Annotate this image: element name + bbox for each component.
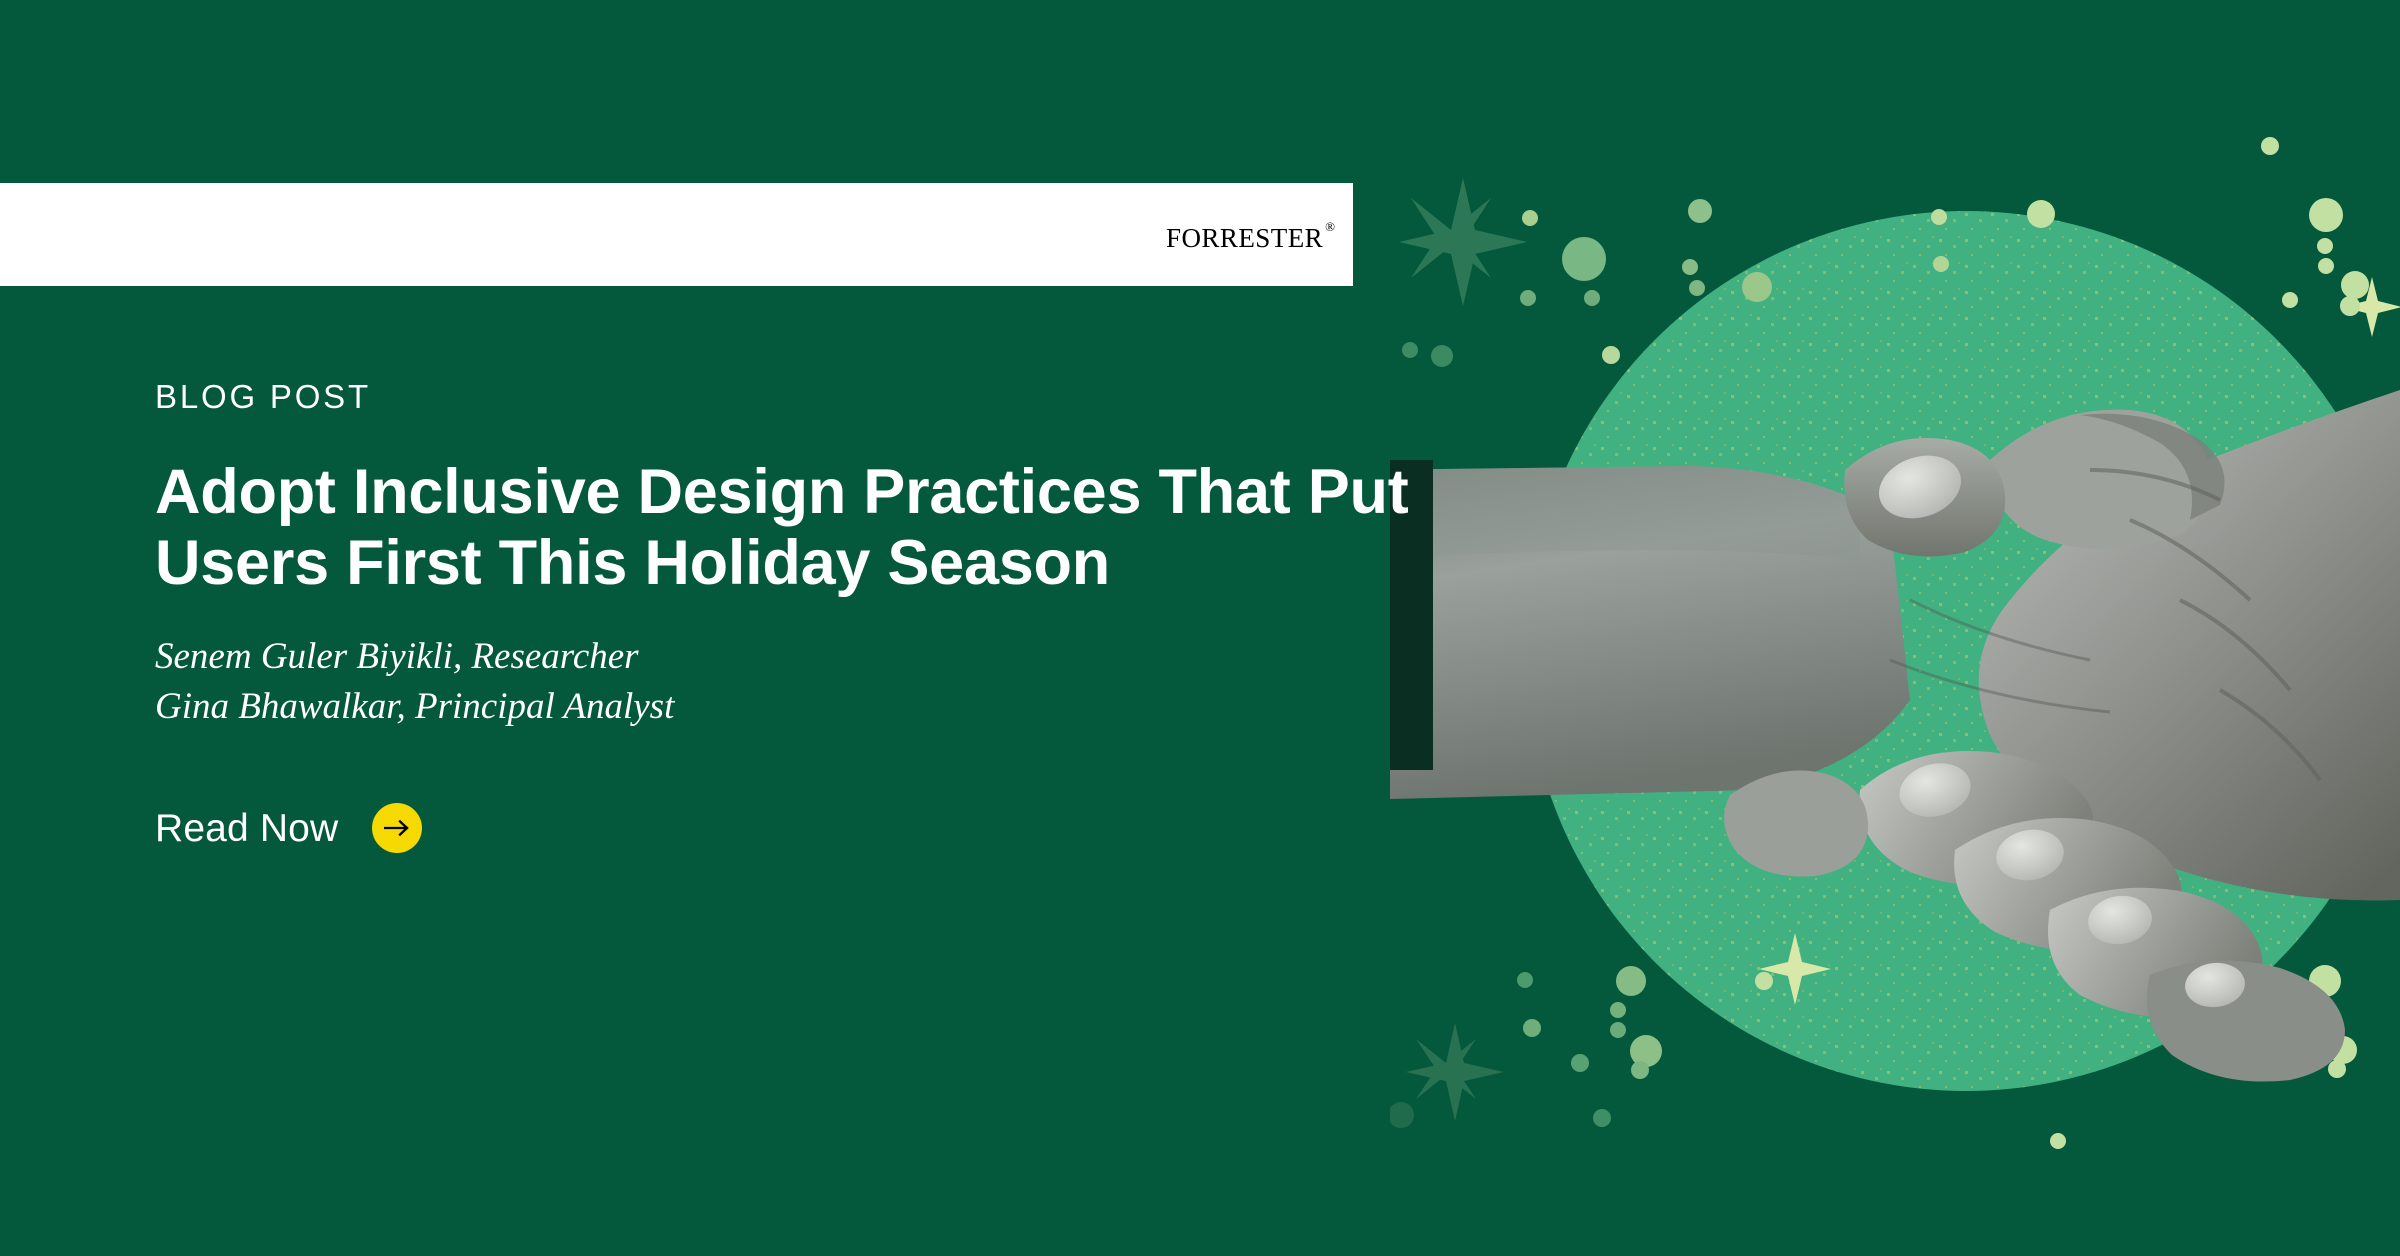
handshake-illustration: [1390, 0, 2400, 1256]
author-list: Senem Guler Biyikli, Researcher Gina Bha…: [155, 632, 1475, 731]
read-now-cta[interactable]: Read Now: [155, 803, 422, 853]
registered-trademark-icon: ®: [1325, 220, 1335, 233]
arrow-right-icon[interactable]: [372, 803, 422, 853]
banner-content: BLOG POST Adopt Inclusive Design Practic…: [155, 380, 1475, 853]
author-line-2: Gina Bhawalkar, Principal Analyst: [155, 682, 1475, 732]
author-line-1: Senem Guler Biyikli, Researcher: [155, 632, 1475, 682]
forrester-logo-bar: Forrester ®: [0, 183, 1353, 286]
forrester-logo[interactable]: Forrester ®: [1166, 216, 1353, 254]
forrester-wordmark: Forrester: [1166, 216, 1323, 254]
blog-post-banner: Forrester ® BLOG POST Adopt Inclusive De…: [0, 0, 2400, 1256]
page-title: Adopt Inclusive Design Practices That Pu…: [155, 457, 1465, 598]
read-now-label: Read Now: [155, 809, 338, 848]
content-type-label: BLOG POST: [155, 380, 1475, 413]
